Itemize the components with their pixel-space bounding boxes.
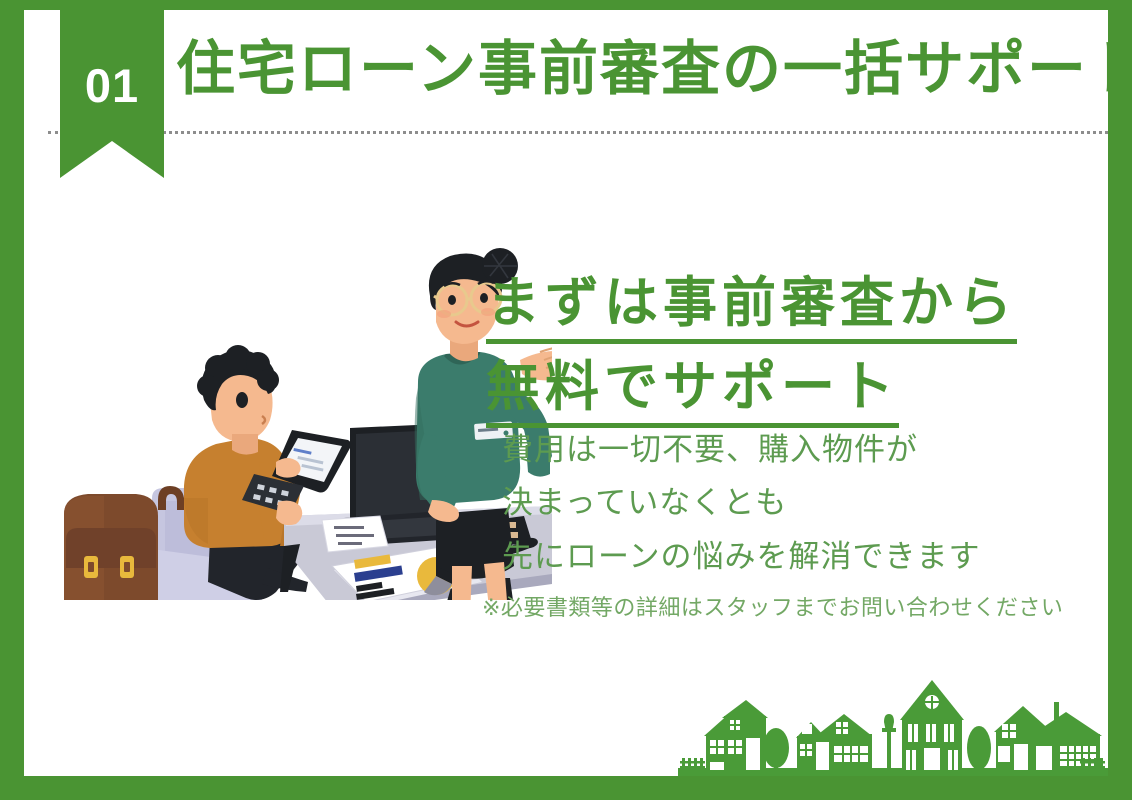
page-title: 住宅ローン事前審査の一括サポート	[176, 38, 1108, 100]
section-number-ribbon: 01	[60, 10, 164, 178]
house-4	[994, 702, 1102, 770]
tree-1	[763, 728, 789, 772]
loan-consultation-illustration	[32, 248, 552, 600]
tree-2	[967, 726, 991, 772]
body-line-2: 決まっていなくとも	[502, 477, 1102, 530]
body-copy-block: 費用は一切不要、購入物件が 決まっていなくとも 先にローンの悩みを解消できます	[502, 424, 1102, 584]
desk-note	[322, 516, 388, 552]
house-3	[900, 680, 964, 770]
house-2	[796, 714, 872, 770]
fence-left	[680, 758, 705, 770]
headline-line-1: まずは事前審査から	[486, 268, 1017, 344]
lamp-post	[882, 714, 896, 770]
backpack-flap	[66, 528, 156, 568]
body-line-1: 費用は一切不要、購入物件が	[502, 424, 1102, 477]
body-line-3: 先にローンの悩みを解消できます	[502, 531, 1102, 584]
houses-skyline-silhouette	[678, 666, 1108, 776]
house-1	[704, 700, 768, 770]
client-hand-lower	[276, 501, 302, 525]
slide-root: 01 住宅ローン事前審査の一括サポート	[0, 0, 1132, 800]
headline-line-2: 無料でサポート	[486, 352, 899, 428]
section-number-label: 01	[85, 62, 139, 109]
slide-canvas: 01 住宅ローン事前審査の一括サポート	[24, 10, 1108, 776]
advisor-eye-left	[448, 295, 456, 305]
footnote-text: ※必要書類等の詳細はスタッフまでお問い合わせください	[482, 590, 1063, 622]
headline-block: まずは事前審査から 無料でサポート	[486, 268, 1106, 436]
header-divider	[48, 131, 1108, 134]
client-eye	[236, 392, 248, 408]
